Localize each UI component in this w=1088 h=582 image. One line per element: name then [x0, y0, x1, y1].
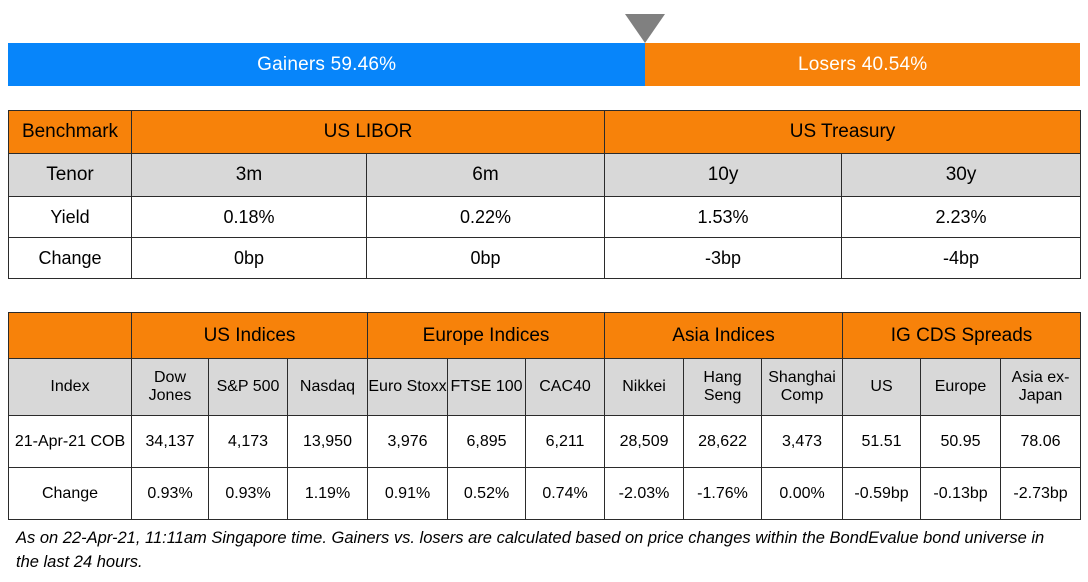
value-ftse-100: 6,895: [448, 416, 526, 468]
group-header-us-indices: US Indices: [132, 313, 368, 359]
change-3m: 0bp: [132, 238, 367, 279]
change-euro-stoxx: 0.91%: [368, 468, 448, 520]
benchmark-group-header-row: Benchmark US LIBOR US Treasury: [9, 111, 1081, 154]
indices-group-header-row: US Indices Europe Indices Asia Indices I…: [9, 313, 1081, 359]
yield-row: Yield 0.18% 0.22% 1.53% 2.23%: [9, 197, 1081, 238]
value-hang-seng: 28,622: [684, 416, 762, 468]
data-row-label: 21-Apr-21 COB: [9, 416, 132, 468]
column-header-hang-seng: Hang Seng: [684, 359, 762, 416]
value-nikkei: 28,509: [605, 416, 684, 468]
tenor-30y: 30y: [842, 154, 1081, 197]
column-header-cac40: CAC40: [526, 359, 605, 416]
change-hang-seng: -1.76%: [684, 468, 762, 520]
group-header-us-treasury: US Treasury: [605, 111, 1081, 154]
indices-column-header-row: Index Dow Jones S&P 500 Nasdaq Euro Stox…: [9, 359, 1081, 416]
value-cds-asia-ex-japan: 78.06: [1001, 416, 1081, 468]
gainers-losers-chart: Gainers 59.46% Losers 40.54%: [8, 8, 1080, 86]
tenor-10y: 10y: [605, 154, 842, 197]
yield-row-label: Yield: [9, 197, 132, 238]
tenor-row-label: Tenor: [9, 154, 132, 197]
change-shanghai-comp: 0.00%: [762, 468, 843, 520]
column-header-cds-europe: Europe: [921, 359, 1001, 416]
benchmark-rates-table: Benchmark US LIBOR US Treasury Tenor 3m …: [8, 110, 1081, 279]
table-row: 21-Apr-21 COB 34,137 4,173 13,950 3,976 …: [9, 416, 1081, 468]
change-30y: -4bp: [842, 238, 1081, 279]
change-sp-500: 0.93%: [209, 468, 288, 520]
value-shanghai-comp: 3,473: [762, 416, 843, 468]
yield-10y: 1.53%: [605, 197, 842, 238]
index-column-label: Index: [9, 359, 132, 416]
change-dow-jones: 0.93%: [132, 468, 209, 520]
column-header-nasdaq: Nasdaq: [288, 359, 368, 416]
benchmark-change-row: Change 0bp 0bp -3bp -4bp: [9, 238, 1081, 279]
split-marker-triangle-icon: [625, 14, 665, 43]
change-cac40: 0.74%: [526, 468, 605, 520]
column-header-shanghai-comp: Shanghai Comp: [762, 359, 843, 416]
change-row-label: Change: [9, 238, 132, 279]
yield-6m: 0.22%: [367, 197, 605, 238]
yield-30y: 2.23%: [842, 197, 1081, 238]
column-header-cds-us: US: [843, 359, 921, 416]
change-cds-us: -0.59bp: [843, 468, 921, 520]
value-cds-europe: 50.95: [921, 416, 1001, 468]
change-6m: 0bp: [367, 238, 605, 279]
yield-3m: 0.18%: [132, 197, 367, 238]
gainers-label: Gainers 59.46%: [257, 54, 396, 76]
change-cds-asia-ex-japan: -2.73bp: [1001, 468, 1081, 520]
column-header-cds-asia-ex-japan: Asia ex-Japan: [1001, 359, 1081, 416]
value-euro-stoxx: 3,976: [368, 416, 448, 468]
market-summary-page: Gainers 59.46% Losers 40.54% Benchmark U…: [0, 0, 1088, 582]
gainers-segment: Gainers 59.46%: [8, 43, 645, 86]
sentiment-bar: Gainers 59.46% Losers 40.54%: [8, 43, 1080, 86]
column-header-nikkei: Nikkei: [605, 359, 684, 416]
group-header-asia-indices: Asia Indices: [605, 313, 843, 359]
group-header-us-libor: US LIBOR: [132, 111, 605, 154]
benchmark-corner-label: Benchmark: [9, 111, 132, 154]
value-cds-us: 51.51: [843, 416, 921, 468]
marker-row: [8, 8, 1080, 43]
value-cac40: 6,211: [526, 416, 605, 468]
change-cds-europe: -0.13bp: [921, 468, 1001, 520]
change-nikkei: -2.03%: [605, 468, 684, 520]
change-ftse-100: 0.52%: [448, 468, 526, 520]
group-header-europe-indices: Europe Indices: [368, 313, 605, 359]
column-header-sp-500: S&P 500: [209, 359, 288, 416]
column-header-euro-stoxx: Euro Stoxx: [368, 359, 448, 416]
column-header-ftse-100: FTSE 100: [448, 359, 526, 416]
tenor-6m: 6m: [367, 154, 605, 197]
indices-corner-label: [9, 313, 132, 359]
losers-label: Losers 40.54%: [798, 54, 927, 76]
market-indices-table: US Indices Europe Indices Asia Indices I…: [8, 312, 1081, 520]
tenor-row: Tenor 3m 6m 10y 30y: [9, 154, 1081, 197]
group-header-ig-cds-spreads: IG CDS Spreads: [843, 313, 1081, 359]
column-header-dow-jones: Dow Jones: [132, 359, 209, 416]
change-10y: -3bp: [605, 238, 842, 279]
indices-change-row-label: Change: [9, 468, 132, 520]
tenor-3m: 3m: [132, 154, 367, 197]
value-dow-jones: 34,137: [132, 416, 209, 468]
footnote-text: As on 22-Apr-21, 11:11am Singapore time.…: [16, 527, 1062, 575]
value-nasdaq: 13,950: [288, 416, 368, 468]
value-sp-500: 4,173: [209, 416, 288, 468]
losers-segment: Losers 40.54%: [645, 43, 1080, 86]
table-row: Change 0.93% 0.93% 1.19% 0.91% 0.52% 0.7…: [9, 468, 1081, 520]
change-nasdaq: 1.19%: [288, 468, 368, 520]
